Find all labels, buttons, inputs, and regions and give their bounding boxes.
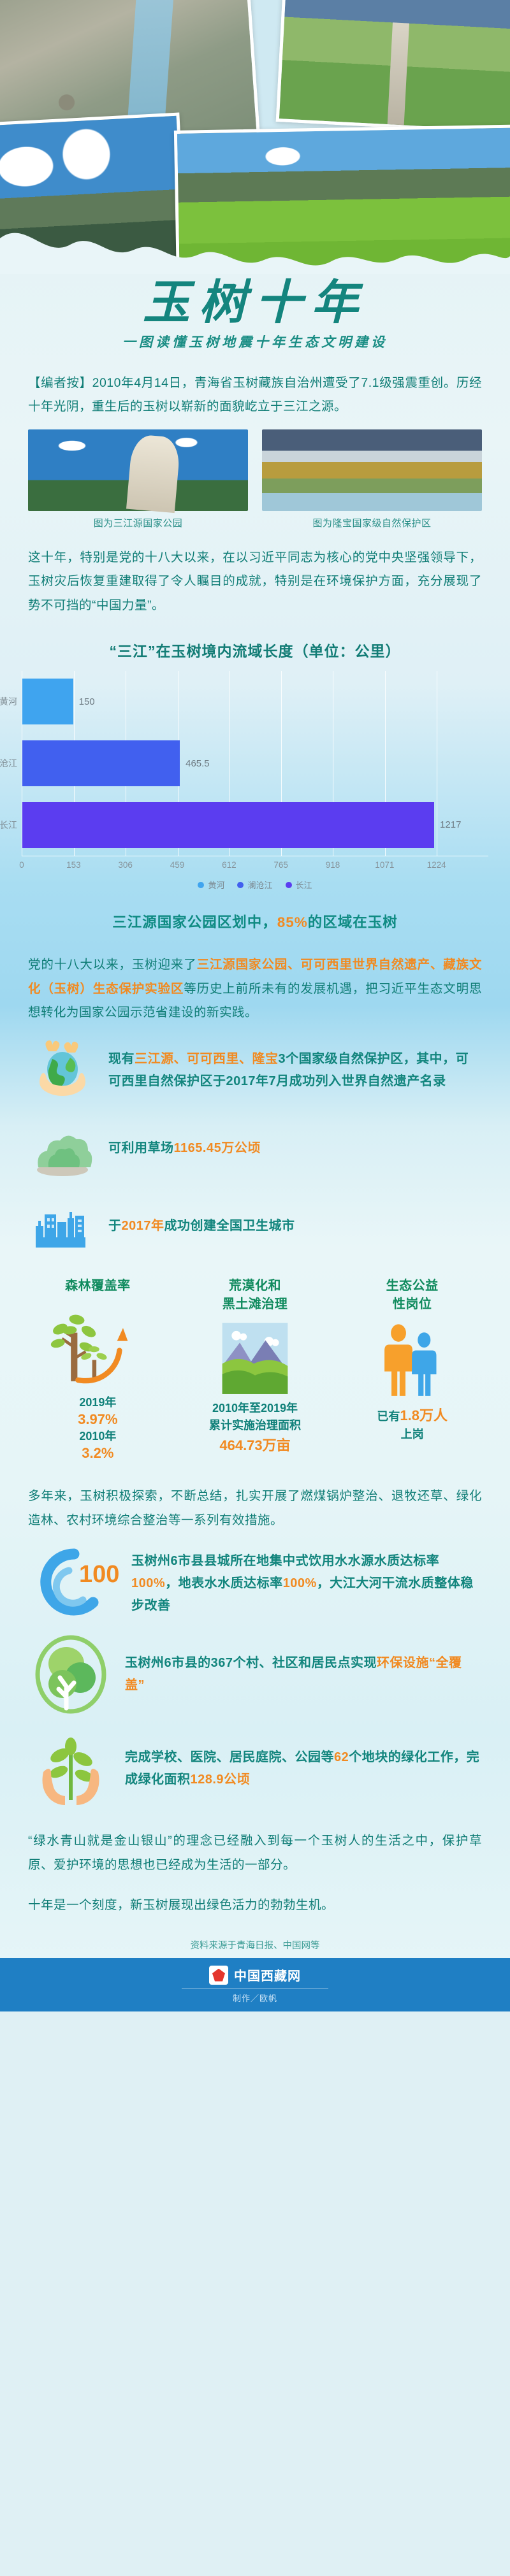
closing-paragraph-2: 十年是一个刻度，新玉树展现出绿色活力的勃勃生机。: [0, 1894, 510, 1917]
river-length-bar-chart: 黄河150澜沧江465.5长江1217 01533064596127659181…: [0, 671, 510, 895]
banner-85-before: 三江源国家公园区划中，: [112, 914, 277, 930]
stat-1-body: 2019年 3.97% 2010年 3.2%: [22, 1302, 174, 1462]
row3-seg-1: 2017年: [122, 1219, 164, 1233]
chart-x-tick-label: 1224: [427, 860, 446, 870]
chart-x-tick-label: 306: [118, 860, 133, 870]
icon-row-grassland: 可利用草场1165.45万公顷: [0, 1106, 510, 1184]
icon-row-2-text: 可利用草场1165.45万公顷: [108, 1137, 481, 1160]
chart-legend-item[interactable]: 长江: [286, 879, 312, 891]
footer-bar: 中国西藏网 制作／欧帆: [0, 1958, 510, 2011]
chart-bar-value-label: 150: [79, 696, 95, 707]
tree-growth-icon: [47, 1302, 148, 1391]
chart-x-tick-label: 612: [222, 860, 237, 870]
stat-2-line2: 累计实施治理面积: [179, 1417, 331, 1434]
photo-pair: 图为三江源国家公园 图为隆宝国家级自然保护区: [0, 423, 510, 529]
row1-seg-1: 三江源、可可西里、隆宝: [135, 1052, 279, 1066]
icon-row-3-text: 于2017年成功创建全国卫生城市: [108, 1215, 481, 1237]
row5-seg-0: 玉树州6市县的367个村、社区和居民点实现: [125, 1656, 377, 1670]
chart-bar-value-label: 1217: [440, 819, 461, 830]
stat-3-value: 1.8万人: [400, 1407, 448, 1423]
chart-bar-row: 黄河150: [22, 679, 488, 724]
row6-seg-0: 完成学校、医院、居民庭院、公园等: [125, 1750, 334, 1764]
chart-x-tick-label: 765: [273, 860, 288, 870]
banner-85-value: 85%: [277, 914, 308, 930]
icon-row-water-quality: 100% 玉树州6市县县城所在地集中式饮用水水源水质达标率100%，地表水水质达…: [0, 1536, 510, 1624]
triple-stats: 森林覆盖率: [0, 1262, 510, 1468]
source-line: 资料来源于青海日报、中国网等: [0, 1922, 510, 1958]
row1-seg-0: 现有: [108, 1052, 135, 1066]
stat-2-heading: 荒漠化和 黑土滩治理: [179, 1277, 331, 1314]
stat-3-prefix: 已有: [377, 1410, 400, 1423]
hero-photo-grassland-slogan: [276, 0, 510, 134]
stat-3-heading: 生态公益 性岗位: [336, 1277, 488, 1314]
wave-mask-icon: [0, 200, 510, 274]
chart-bar-value-label: 465.5: [186, 758, 210, 769]
stat-1-value-top: 3.97%: [22, 1411, 174, 1428]
chart-bar-category-label: 黄河: [0, 695, 17, 708]
chart-legend-dot: [237, 882, 244, 888]
row6-seg-1: 62: [334, 1750, 349, 1764]
circle-badge-label: 100%: [79, 1561, 119, 1588]
chart-x-tick-label: 459: [170, 860, 185, 870]
stat-2-body: 2010年至2019年 累计实施治理面积 464.73万亩: [179, 1320, 331, 1455]
decade-paragraph: 这十年，特别是党的十八大以来，在以习近平同志为核心的党中央坚强领导下，玉树灾后恢…: [0, 546, 510, 617]
photo-caption-right: 图为隆宝国家级自然保护区: [262, 516, 482, 529]
stat-1-value-bottom: 3.2%: [22, 1445, 174, 1462]
stat-forest-coverage: 森林覆盖率: [22, 1277, 174, 1462]
stat-3-line2: 上岗: [336, 1426, 488, 1443]
icon-row-1-text: 现有三江源、可可西里、隆宝3个国家级自然保护区，其中，可可西里自然保护区于201…: [108, 1048, 481, 1093]
grass-bush-icon: [29, 1115, 96, 1181]
editor-note: 【编者按】2010年4月14日，青海省玉树藏族自治州遭受了7.1级强震重创。历经…: [0, 371, 510, 419]
chart-bar-category-label: 长江: [0, 819, 17, 831]
row3-seg-2: 成功创建全国卫生城市: [164, 1219, 295, 1233]
stat-3-line1: 已有1.8万人: [336, 1405, 488, 1426]
stat-2-value: 464.73万亩: [179, 1434, 331, 1455]
city-skyline-icon: [29, 1193, 96, 1259]
national-park-paragraph: 党的十八大以来，玉树迎来了三江源国家公园、可可西里世界自然遗产、藏族文化（玉树）…: [0, 953, 510, 1025]
icon-row-5-text: 玉树州6市县的367个村、社区和居民点实现环保设施“全覆盖”: [125, 1652, 481, 1697]
chart-plot-area: 黄河150澜沧江465.5长江1217: [22, 671, 488, 856]
chart-bar-category-label: 澜沧江: [0, 757, 17, 770]
stat-eco-jobs: 生态公益 性岗位 已有1.8万人 上岗: [336, 1277, 488, 1462]
closing-paragraph-1: “绿水青山就是金山银山”的理念已经融入到每一个玉树人的生活之中，保护草原、爱护环…: [0, 1829, 510, 1877]
chart-bar: [22, 679, 73, 724]
stat-2-line1: 2010年至2019年: [179, 1400, 331, 1417]
chart-bar: [22, 802, 434, 848]
banner-85-after: 的区域在玉树: [308, 914, 398, 930]
stat-1-heading: 森林覆盖率: [22, 1277, 174, 1295]
chart-legend-dot: [198, 882, 204, 888]
photo-card-sanjiangyuan: 图为三江源国家公园: [28, 429, 248, 529]
photo-caption-left: 图为三江源国家公园: [28, 516, 248, 529]
chart-x-tick-label: 918: [326, 860, 340, 870]
icon-row-4-text: 玉树州6市县县城所在地集中式饮用水水源水质达标率100%，地表水水质达标率100…: [131, 1550, 481, 1617]
site-logo-icon: [209, 1966, 228, 1985]
stat-desertification: 荒漠化和 黑土滩治理 2010年至2019年 累计实施治理面积 464.73万亩: [179, 1277, 331, 1462]
chart-x-tick-label: 1071: [375, 860, 394, 870]
park-text-1: 党的十八大以来，玉树迎来了: [28, 958, 197, 972]
grassland-landscape-icon: [220, 1320, 290, 1397]
two-people-icon: [377, 1320, 448, 1402]
chart-bar-row: 长江1217: [22, 802, 488, 848]
chart-title: “三江”在玉树境内流域长度（单位：公里）: [0, 639, 510, 661]
brand-row[interactable]: 中国西藏网: [209, 1966, 301, 1985]
row3-seg-0: 于: [108, 1219, 122, 1233]
chart-legend-item[interactable]: 黄河: [198, 879, 224, 891]
row4-seg-3: 100%: [283, 1576, 317, 1590]
hero-photo-collage: [0, 0, 510, 274]
icon-row-nature-reserves: 现有三江源、可可西里、隆宝3个国家级自然保护区，其中，可可西里自然保护区于201…: [0, 1028, 510, 1106]
hand-tree-circle-icon: [29, 1633, 112, 1716]
chart-x-tick-label: 153: [66, 860, 81, 870]
photo-card-longbao: 图为隆宝国家级自然保护区: [262, 429, 482, 529]
footer-divider: [182, 1988, 328, 1989]
hands-sprout-icon: [29, 1727, 112, 1810]
measures-paragraph: 多年来，玉树积极探索，不断总结，扎实开展了燃煤锅炉整治、退牧还草、绿化造林、农村…: [0, 1485, 510, 1532]
banner-85-percent: 三江源国家公园区划中，85%的区域在玉树: [0, 895, 510, 937]
brand-name: 中国西藏网: [234, 1966, 301, 1984]
row6-seg-3: 128.9公顷: [191, 1773, 251, 1787]
photo-longbao-wetland: [262, 429, 482, 511]
row4-seg-1: 100%: [131, 1576, 165, 1590]
chart-legend-label: 澜沧江: [247, 879, 272, 891]
icon-row-6-text: 完成学校、医院、居民庭院、公园等62个地块的绿化工作，完成绿化面积128.9公顷: [125, 1746, 481, 1791]
row4-seg-2: ，地表水水质达标率: [165, 1576, 283, 1590]
chart-legend-label: 黄河: [208, 879, 224, 891]
photo-sanjiangyuan-monument: [28, 429, 248, 511]
closing-highlight: “绿水青山就是金山银山”: [28, 1834, 172, 1848]
icon-row-greening: 完成学校、医院、居民庭院、公园等62个地块的绿化工作，完成绿化面积128.9公顷: [0, 1718, 510, 1813]
chart-legend-item[interactable]: 澜沧江: [237, 879, 272, 891]
page-subtitle: 一图读懂玉树地震十年生态文明建设: [0, 332, 510, 351]
chart-legend-label: 长江: [296, 879, 312, 891]
stat-1-year-top: 2019年: [22, 1394, 174, 1411]
icon-row-health-city: 于2017年成功创建全国卫生城市: [0, 1184, 510, 1262]
row2-seg-1: 1165.45万公顷: [174, 1141, 261, 1155]
chart-legend-dot: [286, 882, 292, 888]
hands-holding-earth-icon: [29, 1037, 96, 1104]
footer-credit: 制作／欧帆: [233, 1992, 277, 2004]
chart-legend: 黄河澜沧江长江: [22, 879, 488, 891]
infographic-page: 玉树十年 一图读懂玉树地震十年生态文明建设 【编者按】2010年4月14日，青海…: [0, 0, 510, 2011]
row4-seg-0: 玉树州6市县县城所在地集中式饮用水水源水质达标率: [131, 1554, 439, 1568]
icon-row-eco-facilities: 玉树州6市县的367个村、社区和居民点实现环保设施“全覆盖”: [0, 1624, 510, 1718]
chart-bar-row: 澜沧江465.5: [22, 740, 488, 786]
row2-seg-0: 可利用草场: [108, 1141, 174, 1155]
title-block: 玉树十年 一图读懂玉树地震十年生态文明建设: [0, 274, 510, 355]
stat-1-year-bottom: 2010年: [22, 1428, 174, 1445]
chart-bars: 黄河150澜沧江465.5长江1217: [22, 671, 488, 856]
chart-x-axis: 015330645961276591810711224: [22, 856, 488, 877]
page-title: 玉树十年: [0, 277, 510, 329]
circular-100-percent-icon: 100%: [29, 1545, 119, 1622]
chart-bar: [22, 740, 180, 786]
chart-x-tick-label: 0: [19, 860, 24, 870]
stat-3-body: 已有1.8万人 上岗: [336, 1320, 488, 1443]
